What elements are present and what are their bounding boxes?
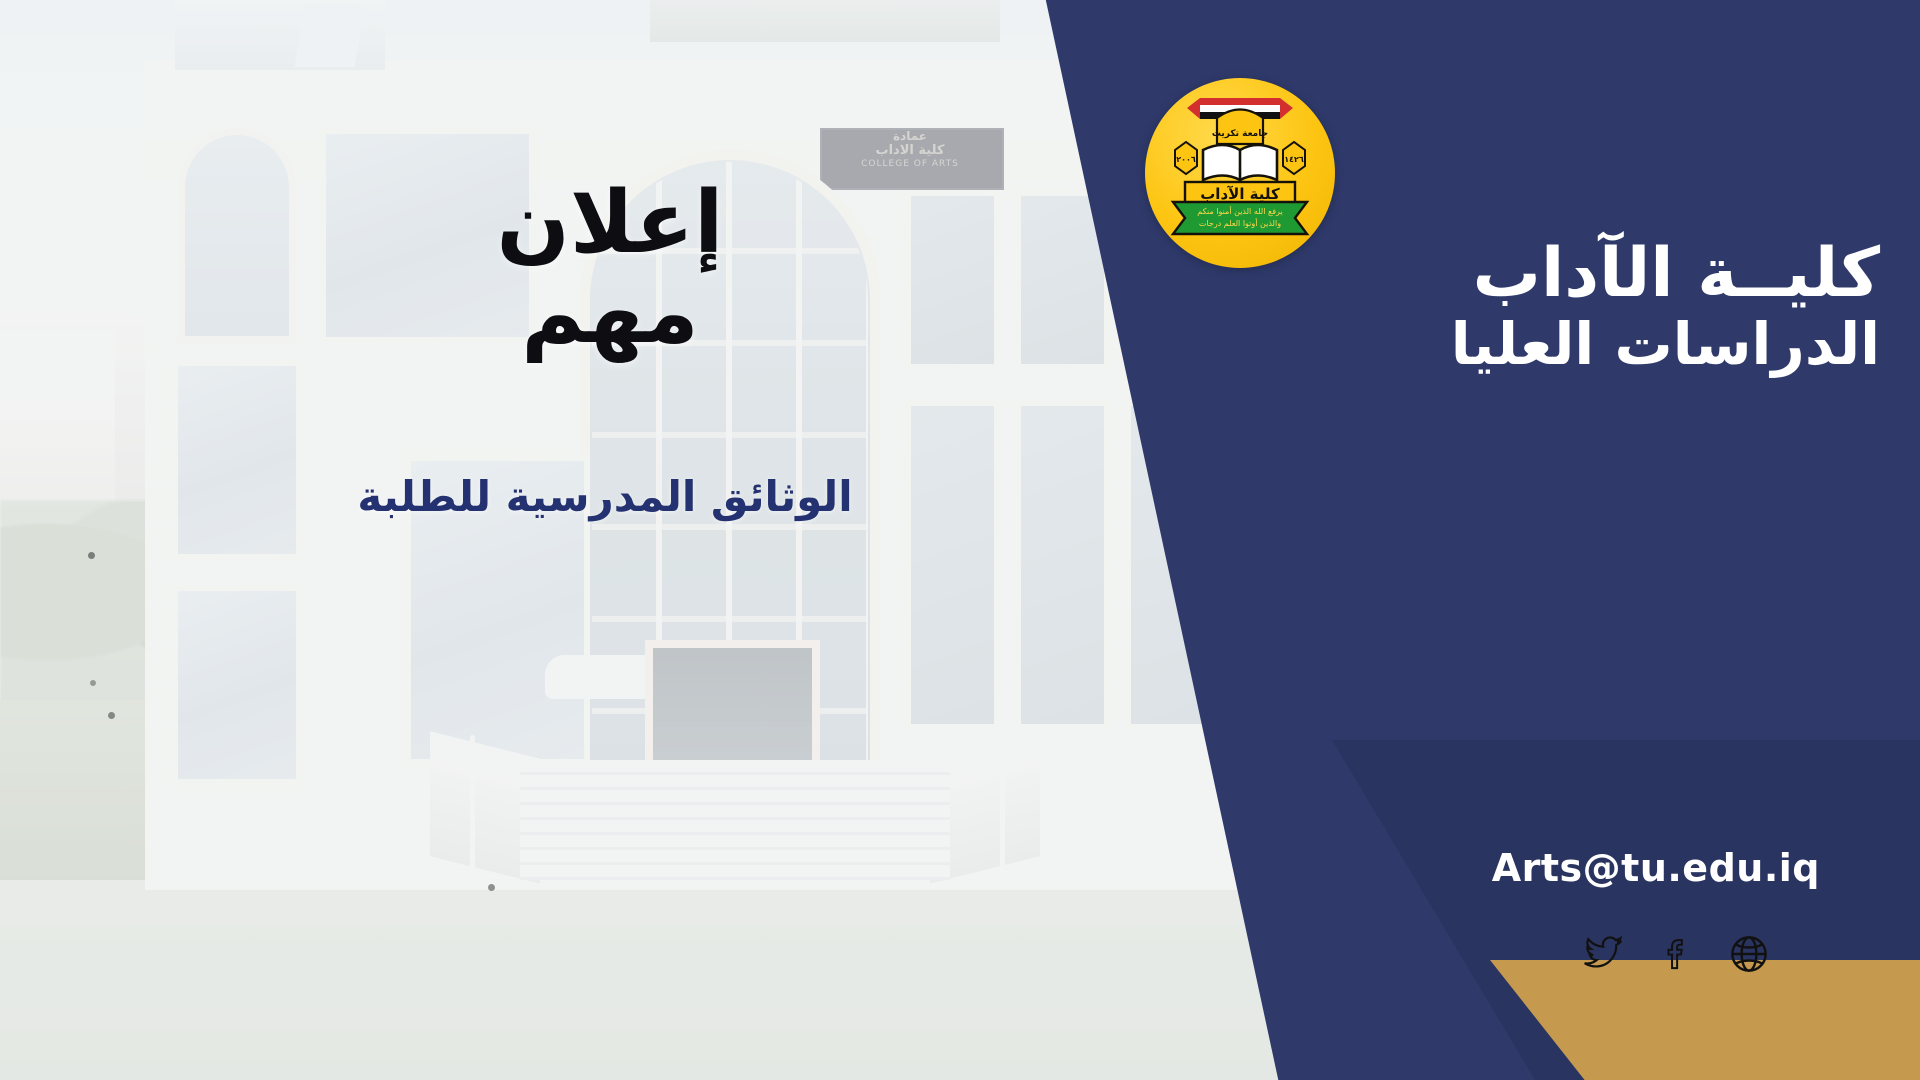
logo-artwork: جامعة تكريت ٢٠٠٦ ١٤٢٦ كلية الآداب: [1145, 78, 1335, 268]
stair-railing: [470, 735, 475, 880]
facade-floodlight: [735, 62, 769, 76]
facade-window: [905, 190, 1000, 370]
logo-banner: كلية الآداب: [1185, 182, 1295, 204]
decorative-dot: [108, 712, 115, 719]
logo-ribbon-line-2: والذين أوتوا العلم درجات: [1199, 218, 1281, 228]
facade-window: [1125, 400, 1220, 730]
announcement-subject: الوثائق المدرسية للطلبة: [330, 472, 880, 522]
logo-arch-text: جامعة تكريت: [1212, 129, 1268, 139]
decorative-dot: [90, 680, 96, 686]
facade-window: [1015, 190, 1110, 370]
logo-green-ribbon: يرفع الله الذين أمنوا منكم والذين أوتوا …: [1173, 202, 1307, 234]
college-of-arts-logo: جامعة تكريت ٢٠٠٦ ١٤٢٦ كلية الآداب: [1145, 78, 1335, 268]
logo-year-badge-right: ١٤٢٦: [1283, 142, 1305, 174]
open-book-icon: [1203, 145, 1277, 180]
facade-sign-line-3: COLLEGE OF ARTS: [822, 159, 998, 171]
facade-sign-text: عمادة كلية الاداب COLLEGE OF ARTS: [822, 130, 998, 170]
logo-year-left: ٢٠٠٦: [1176, 155, 1196, 164]
twitter-icon[interactable]: [1580, 934, 1626, 974]
decorative-dot: [488, 884, 495, 891]
facade-window: [172, 585, 302, 785]
roof-glass-panel: [295, 5, 366, 67]
left-arch-window: [178, 128, 296, 343]
facebook-icon[interactable]: [1660, 934, 1694, 974]
facade-sign-line-1: عمادة: [822, 130, 998, 144]
decorative-dot: [88, 552, 95, 559]
logo-banner-text: كلية الآداب: [1200, 185, 1280, 203]
social-links: [1580, 933, 1770, 975]
stair-railing: [1000, 735, 1005, 880]
facade-floodlight: [560, 62, 594, 76]
facade-window: [172, 360, 302, 560]
department-name: الدراسات العليا: [1360, 312, 1880, 377]
street-lamp-pole: [1218, 520, 1223, 730]
logo-ribbon-line-1: يرفع الله الذين أمنوا منكم: [1197, 206, 1282, 216]
facade-sign-line-2: كلية الاداب: [822, 144, 998, 159]
announcement-poster: جامعة تكريت ٢٠٠٦ ١٤٢٦ كلية الآداب: [0, 0, 1920, 1080]
facade-floodlight: [905, 62, 939, 76]
roof-structure-right: [650, 0, 1000, 42]
faculty-name: كليــة الآداب: [1360, 236, 1880, 312]
contact-email[interactable]: Arts@tu.edu.iq: [1492, 846, 1820, 890]
logo-year-right: ١٤٢٦: [1284, 155, 1304, 164]
faculty-brand-block: كليــة الآداب الدراسات العليا: [1360, 236, 1880, 377]
entrance-stairs: [520, 760, 950, 880]
facade-window: [1015, 400, 1110, 730]
street-lamp-head: [1222, 512, 1286, 528]
page-title: إعلان مهم: [400, 178, 820, 359]
website-icon[interactable]: [1728, 933, 1770, 975]
distant-building-b: [0, 330, 115, 500]
logo-year-badge-left: ٢٠٠٦: [1175, 142, 1197, 174]
facade-window: [905, 400, 1000, 730]
